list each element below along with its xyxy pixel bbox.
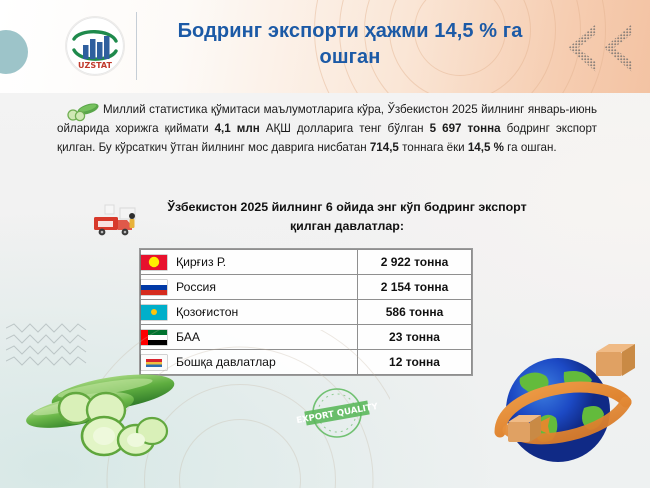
table-cell-value: 586 тонна bbox=[358, 300, 472, 325]
paragraph-highlight: 4,1 млн bbox=[215, 122, 260, 135]
intro-paragraph-block: Миллий статистика қўмитаси маълумотлариг… bbox=[57, 100, 597, 157]
globe-logistics-icon bbox=[480, 330, 645, 480]
page-title: Бодринг экспорти ҳажми 14,5 % га ошган bbox=[150, 18, 550, 71]
table-row: Қозоғистон586 тонна bbox=[141, 300, 472, 325]
paragraph-highlight: 5 697 тонна bbox=[430, 122, 501, 135]
country-label: Қирғиз Р. bbox=[176, 255, 226, 269]
kazakhstan-flag-icon bbox=[141, 305, 167, 320]
country-label: Россия bbox=[176, 280, 216, 294]
header-banner: UZSTAT Бодринг экспорти ҳажми 14,5 % га … bbox=[0, 0, 650, 93]
paragraph-highlight: 714,5 bbox=[370, 141, 399, 154]
cucumbers-illustration bbox=[18, 348, 213, 488]
infographic-canvas: UZSTAT Бодринг экспорти ҳажми 14,5 % га … bbox=[0, 0, 650, 488]
paragraph-text: АҚШ долларига тенг бўлган bbox=[260, 122, 430, 135]
kyrgyzstan-flag-icon bbox=[141, 255, 167, 270]
section-subtitle: Ўзбекистон 2025 йилнинг 6 ойида энг кўп … bbox=[147, 198, 547, 235]
table-cell-value: 2 922 тонна bbox=[358, 250, 472, 275]
uzstat-logo: UZSTAT bbox=[66, 17, 124, 75]
paragraph-highlight: 14,5 % bbox=[468, 141, 504, 154]
section-heading-block: Ўзбекистон 2025 йилнинг 6 ойида энг кўп … bbox=[85, 198, 555, 235]
cucumber-icon bbox=[65, 102, 99, 122]
svg-text:UZSTAT: UZSTAT bbox=[78, 61, 112, 70]
export-quality-stamp-icon: EXPORT QUALITY bbox=[288, 386, 386, 440]
table-cell-country: Қирғиз Р. bbox=[141, 250, 358, 275]
country-label: Қозоғистон bbox=[176, 305, 238, 319]
table-cell-value: 2 154 тонна bbox=[358, 275, 472, 300]
header-divider bbox=[136, 12, 137, 80]
double-chevron-left-icon bbox=[566, 22, 638, 74]
package-box-icon-2 bbox=[508, 415, 541, 442]
package-box-icon bbox=[596, 344, 635, 376]
intro-paragraph: Миллий статистика қўмитаси маълумотлариг… bbox=[57, 100, 597, 157]
table-cell-country: Қозоғистон bbox=[141, 300, 358, 325]
paragraph-text: тоннага ёки bbox=[399, 141, 468, 154]
table-cell-country: Россия bbox=[141, 275, 358, 300]
table-row: Россия2 154 тонна bbox=[141, 275, 472, 300]
russia-flag-icon bbox=[141, 280, 167, 295]
paragraph-text: га ошган. bbox=[504, 141, 557, 154]
delivery-truck-icon bbox=[87, 200, 143, 240]
teal-circle-decoration bbox=[0, 30, 28, 74]
table-row: Қирғиз Р.2 922 тонна bbox=[141, 250, 472, 275]
